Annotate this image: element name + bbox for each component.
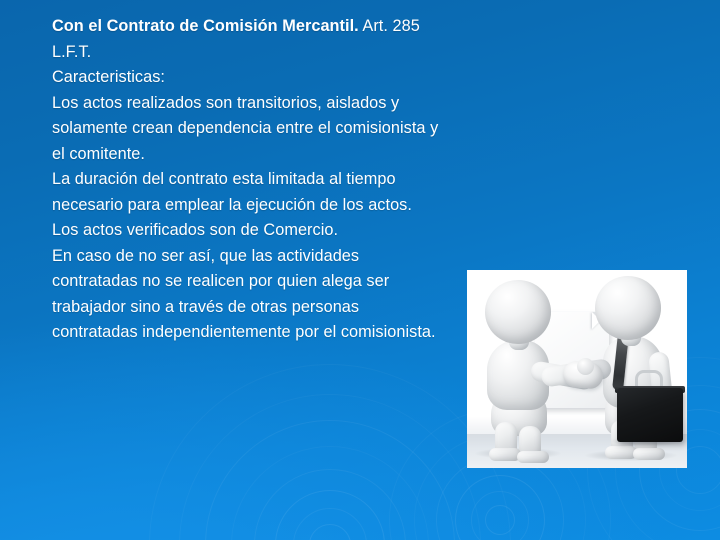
- paragraph-2: Caracteristicas:: [52, 65, 447, 91]
- slide-body-text: Con el Contrato de Comisión Mercantil. A…: [52, 14, 447, 346]
- paragraph-3-text: Los actos realizados son transitorios, a…: [52, 94, 438, 163]
- paragraph-1-bold: Con el Contrato de Comisión Mercantil.: [52, 17, 359, 35]
- paragraph-6-text: En caso de no ser así, que las actividad…: [52, 247, 436, 342]
- paragraph-1: Con el Contrato de Comisión Mercantil. A…: [52, 14, 447, 65]
- paragraph-2-text: Caracteristicas:: [52, 68, 165, 86]
- right-figure-head: [595, 276, 661, 340]
- paragraph-4: La duración del contrato esta limitada a…: [52, 167, 447, 218]
- slide: Con el Contrato de Comisión Mercantil. A…: [0, 0, 720, 540]
- paragraph-3: Los actos realizados son transitorios, a…: [52, 91, 447, 168]
- handshake-image: [467, 270, 687, 468]
- paragraph-5-text: Los actos verificados son de Comercio.: [52, 221, 338, 239]
- image-canvas: [467, 270, 687, 468]
- paragraph-6: En caso de no ser así, que las actividad…: [52, 244, 447, 346]
- briefcase-icon: [617, 388, 683, 442]
- paragraph-4-text: La duración del contrato esta limitada a…: [52, 170, 412, 214]
- paragraph-5: Los actos verificados son de Comercio.: [52, 218, 447, 244]
- left-figure-head: [485, 280, 551, 344]
- handshake-knuckle: [577, 358, 594, 375]
